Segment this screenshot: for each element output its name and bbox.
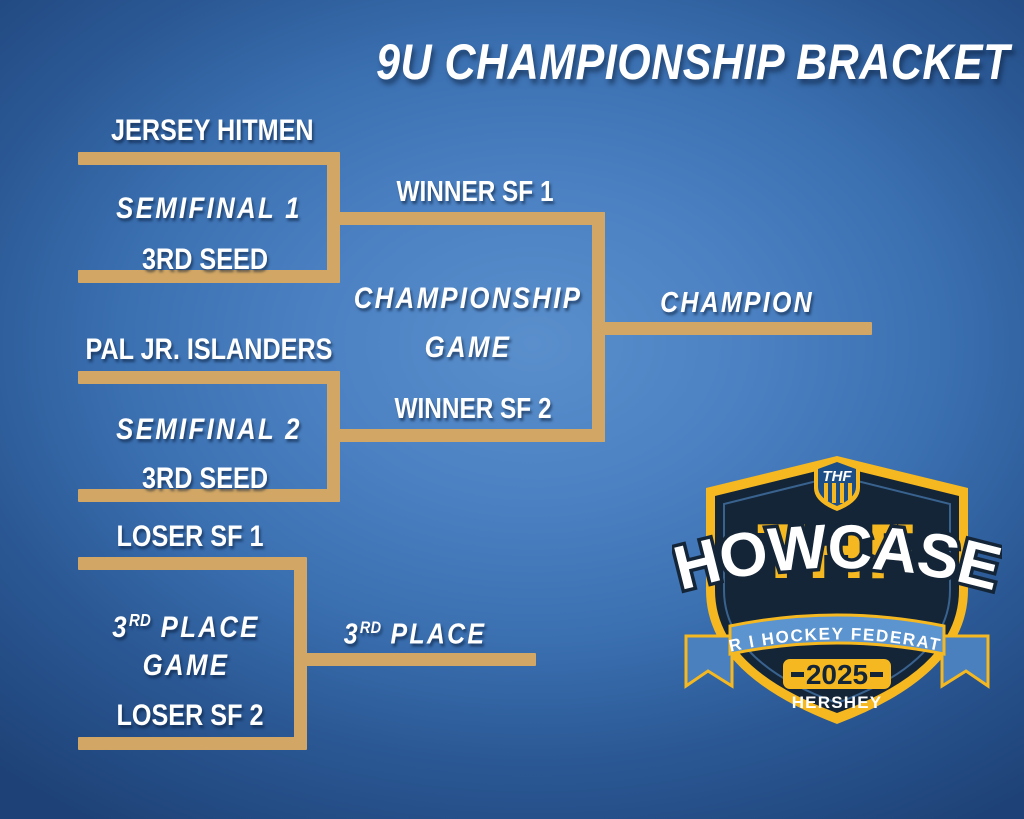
logo-crest-stripe-1 bbox=[824, 483, 828, 501]
semifinal-2-top-line bbox=[78, 371, 340, 384]
third-place-winner-ordinal-suffix: RD bbox=[360, 618, 381, 637]
logo-crest-stripe-2 bbox=[832, 483, 836, 503]
third-place-winner-slot: 3RD PLACE bbox=[344, 619, 487, 651]
semifinal-2-bottom-team: 3RD SEED bbox=[142, 463, 268, 495]
logo-crest-text: THF bbox=[822, 468, 852, 485]
logo-ribbon-tail-left bbox=[686, 636, 732, 686]
logo-ribbon-tail-right bbox=[942, 636, 988, 686]
third-place-game-label-line1: 3RD PLACE bbox=[112, 611, 259, 644]
page-title: 9U CHAMPIONSHIP BRACKET bbox=[376, 35, 1010, 89]
semifinal-1-winner-slot: WINNER SF 1 bbox=[396, 177, 553, 208]
logo-crest-stripe-3 bbox=[840, 483, 844, 503]
third-place-game-label-line2: GAME bbox=[143, 650, 230, 682]
third-place-top-line bbox=[78, 557, 306, 570]
third-place-ordinal-number: 3 bbox=[112, 611, 129, 644]
champion-line bbox=[592, 322, 872, 335]
logo-year-dash-right bbox=[870, 672, 883, 677]
semifinal-2-winner-line bbox=[327, 429, 605, 442]
third-place-ordinal-suffix: RD bbox=[129, 610, 151, 630]
bracket-poster: 9U CHAMPIONSHIP BRACKET JERSEY HITMEN SE… bbox=[0, 0, 1024, 819]
semifinal-2-matchup-label: SEMIFINAL 2 bbox=[116, 414, 302, 446]
semifinal-1-top-team: JERSEY HITMEN bbox=[111, 115, 314, 147]
third-place-top-team: LOSER SF 1 bbox=[116, 521, 263, 553]
semifinal-1-bottom-team: 3RD SEED bbox=[142, 244, 268, 276]
championship-game-label-line1: CHAMPIONSHIP bbox=[354, 283, 583, 315]
third-place-winner-line bbox=[294, 653, 536, 666]
logo-year-dash-left bbox=[791, 672, 804, 677]
logo-crest-stripe-4 bbox=[848, 483, 852, 501]
third-place-label-rest: PLACE bbox=[151, 611, 260, 644]
third-place-bottom-line bbox=[78, 737, 306, 750]
thf-showcases-logo: THF THF SHOWCASES TIER I HOCKEY FEDERATI… bbox=[672, 440, 1002, 730]
champion-slot: CHAMPION bbox=[660, 288, 814, 319]
semifinal-2-top-team: PAL JR. ISLANDERS bbox=[86, 334, 333, 366]
logo-year-text: 2025 bbox=[806, 659, 868, 690]
logo-city-text: HERSHEY bbox=[792, 693, 883, 712]
third-place-winner-ordinal-number: 3 bbox=[344, 619, 360, 651]
third-place-winner-label-rest: PLACE bbox=[381, 619, 486, 651]
semifinal-1-top-line bbox=[78, 152, 340, 165]
third-place-bottom-team: LOSER SF 2 bbox=[116, 700, 263, 732]
semifinal-1-winner-line bbox=[327, 212, 605, 225]
championship-game-label-line2: GAME bbox=[425, 332, 512, 364]
semifinal-2-winner-slot: WINNER SF 2 bbox=[394, 394, 551, 425]
semifinal-1-matchup-label: SEMIFINAL 1 bbox=[116, 193, 302, 225]
